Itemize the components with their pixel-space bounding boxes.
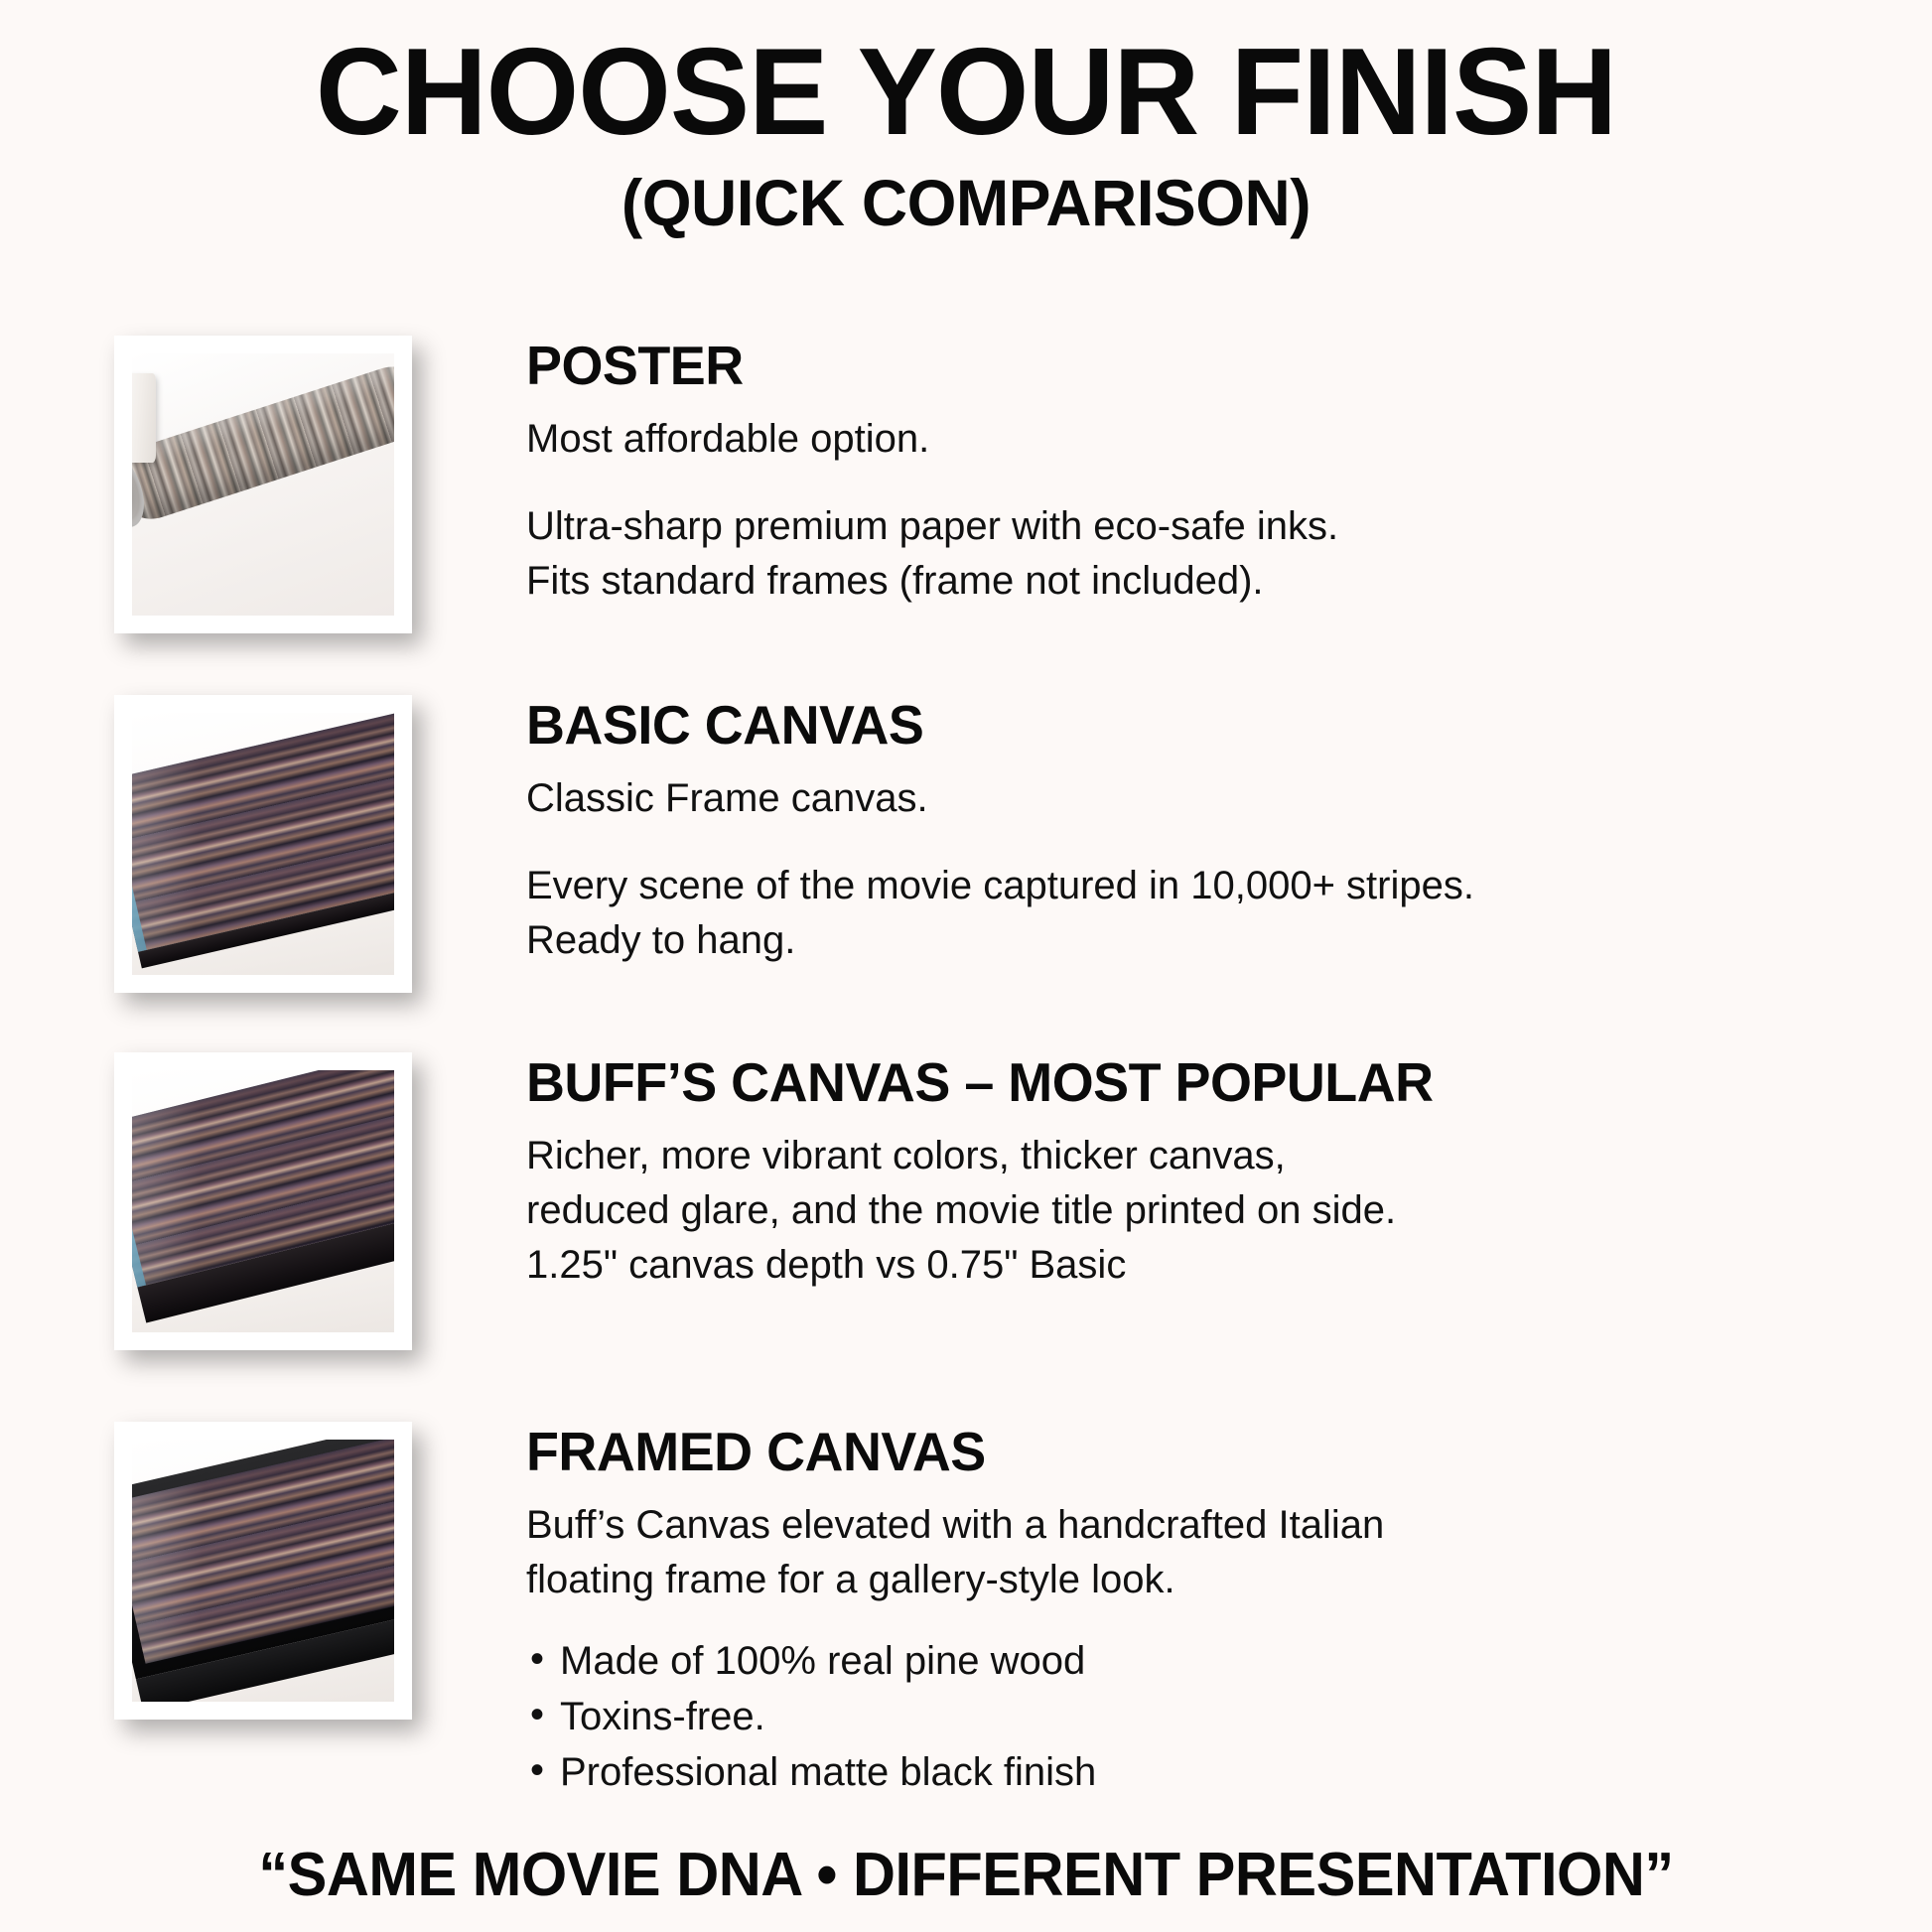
bullet-icon: • bbox=[530, 1687, 544, 1742]
thumbnail-column bbox=[0, 336, 526, 633]
option-lead-buffs-canvas: Richer, more vibrant colors, thicker can… bbox=[526, 1129, 1872, 1183]
list-item: • Made of 100% real pine wood bbox=[526, 1633, 1872, 1689]
option-body-line-1: Every scene of the movie captured in 10,… bbox=[526, 859, 1872, 913]
canvas-slab-icon bbox=[132, 1070, 394, 1288]
footer-tagline: “SAME MOVIE DNA • DIFFERENT PRESENTATION… bbox=[39, 1840, 1893, 1910]
option-body-line-1: Ultra-sharp premium paper with eco-safe … bbox=[526, 499, 1872, 554]
list-item-label: Toxins-free. bbox=[560, 1695, 765, 1738]
bullet-icon: • bbox=[530, 1742, 544, 1798]
option-body-line-2: Ready to hang. bbox=[526, 913, 1872, 968]
basic-canvas-image bbox=[132, 713, 394, 975]
option-body-poster: Ultra-sharp premium paper with eco-safe … bbox=[526, 499, 1872, 609]
text-column: BASIC CANVAS Classic Frame canvas. Every… bbox=[526, 695, 1932, 968]
option-title-poster: POSTER bbox=[526, 336, 1846, 396]
option-title-basic-canvas: BASIC CANVAS bbox=[526, 695, 1846, 756]
list-item: • Toxins-free. bbox=[526, 1689, 1872, 1744]
option-lead-framed-canvas: Buff’s Canvas elevated with a handcrafte… bbox=[526, 1498, 1872, 1553]
option-body-framed-canvas: Buff’s Canvas elevated with a handcrafte… bbox=[526, 1498, 1872, 1607]
poster-image bbox=[132, 353, 394, 616]
option-body-line-1: floating frame for a gallery-style look. bbox=[526, 1553, 1872, 1607]
option-title-framed-canvas: FRAMED CANVAS bbox=[526, 1422, 1846, 1482]
list-item: • Professional matte black finish bbox=[526, 1744, 1872, 1800]
page-subtitle: (QUICK COMPARISON) bbox=[29, 166, 1903, 241]
option-title-buffs-canvas: BUFF’S CANVAS – MOST POPULAR bbox=[526, 1052, 1846, 1113]
option-row-basic-canvas: BASIC CANVAS Classic Frame canvas. Every… bbox=[0, 695, 1932, 993]
framed-canvas-image bbox=[132, 1440, 394, 1702]
thumbnail-column bbox=[0, 1052, 526, 1350]
canvas-slab-icon bbox=[132, 713, 394, 952]
option-body-line-2: 1.25" canvas depth vs 0.75" Basic bbox=[526, 1238, 1872, 1293]
option-row-buffs-canvas: BUFF’S CANVAS – MOST POPULAR Richer, mor… bbox=[0, 1052, 1932, 1350]
text-column: POSTER Most affordable option. Ultra-sha… bbox=[526, 336, 1932, 609]
thumbnail-column bbox=[0, 1422, 526, 1720]
basic-canvas-photo-card[interactable] bbox=[114, 695, 412, 993]
list-item-label: Made of 100% real pine wood bbox=[560, 1639, 1085, 1683]
header: CHOOSE YOUR FINISH (QUICK COMPARISON) bbox=[0, 28, 1932, 241]
buffs-canvas-image bbox=[132, 1070, 394, 1332]
text-column: FRAMED CANVAS Buff’s Canvas elevated wit… bbox=[526, 1422, 1932, 1800]
framed-canvas-feature-list: • Made of 100% real pine wood • Toxins-f… bbox=[526, 1633, 1872, 1800]
list-item-label: Professional matte black finish bbox=[560, 1750, 1096, 1794]
page-title: CHOOSE YOUR FINISH bbox=[29, 28, 1903, 158]
poster-paper-curl-icon bbox=[132, 373, 156, 463]
bullet-icon: • bbox=[530, 1631, 544, 1687]
option-row-framed-canvas: FRAMED CANVAS Buff’s Canvas elevated wit… bbox=[0, 1422, 1932, 1800]
framed-canvas-photo-card[interactable] bbox=[114, 1422, 412, 1720]
option-lead-basic-canvas: Classic Frame canvas. bbox=[526, 771, 1872, 825]
text-column: BUFF’S CANVAS – MOST POPULAR Richer, mor… bbox=[526, 1052, 1932, 1293]
buffs-canvas-photo-card[interactable] bbox=[114, 1052, 412, 1350]
poster-tube-icon bbox=[132, 357, 394, 528]
option-body-basic-canvas: Every scene of the movie captured in 10,… bbox=[526, 859, 1872, 968]
option-body-buffs-canvas: Richer, more vibrant colors, thicker can… bbox=[526, 1129, 1872, 1294]
poster-photo-card[interactable] bbox=[114, 336, 412, 633]
poster-tube-end-icon bbox=[132, 451, 152, 533]
floating-frame-icon bbox=[132, 1440, 394, 1679]
thumbnail-column bbox=[0, 695, 526, 993]
option-body-line-1: reduced glare, and the movie title print… bbox=[526, 1183, 1872, 1238]
option-row-poster: POSTER Most affordable option. Ultra-sha… bbox=[0, 336, 1932, 633]
option-body-line-2: Fits standard frames (frame not included… bbox=[526, 554, 1872, 609]
option-lead-poster: Most affordable option. bbox=[526, 412, 1872, 466]
infographic-page: CHOOSE YOUR FINISH (QUICK COMPARISON) PO… bbox=[0, 0, 1932, 1932]
